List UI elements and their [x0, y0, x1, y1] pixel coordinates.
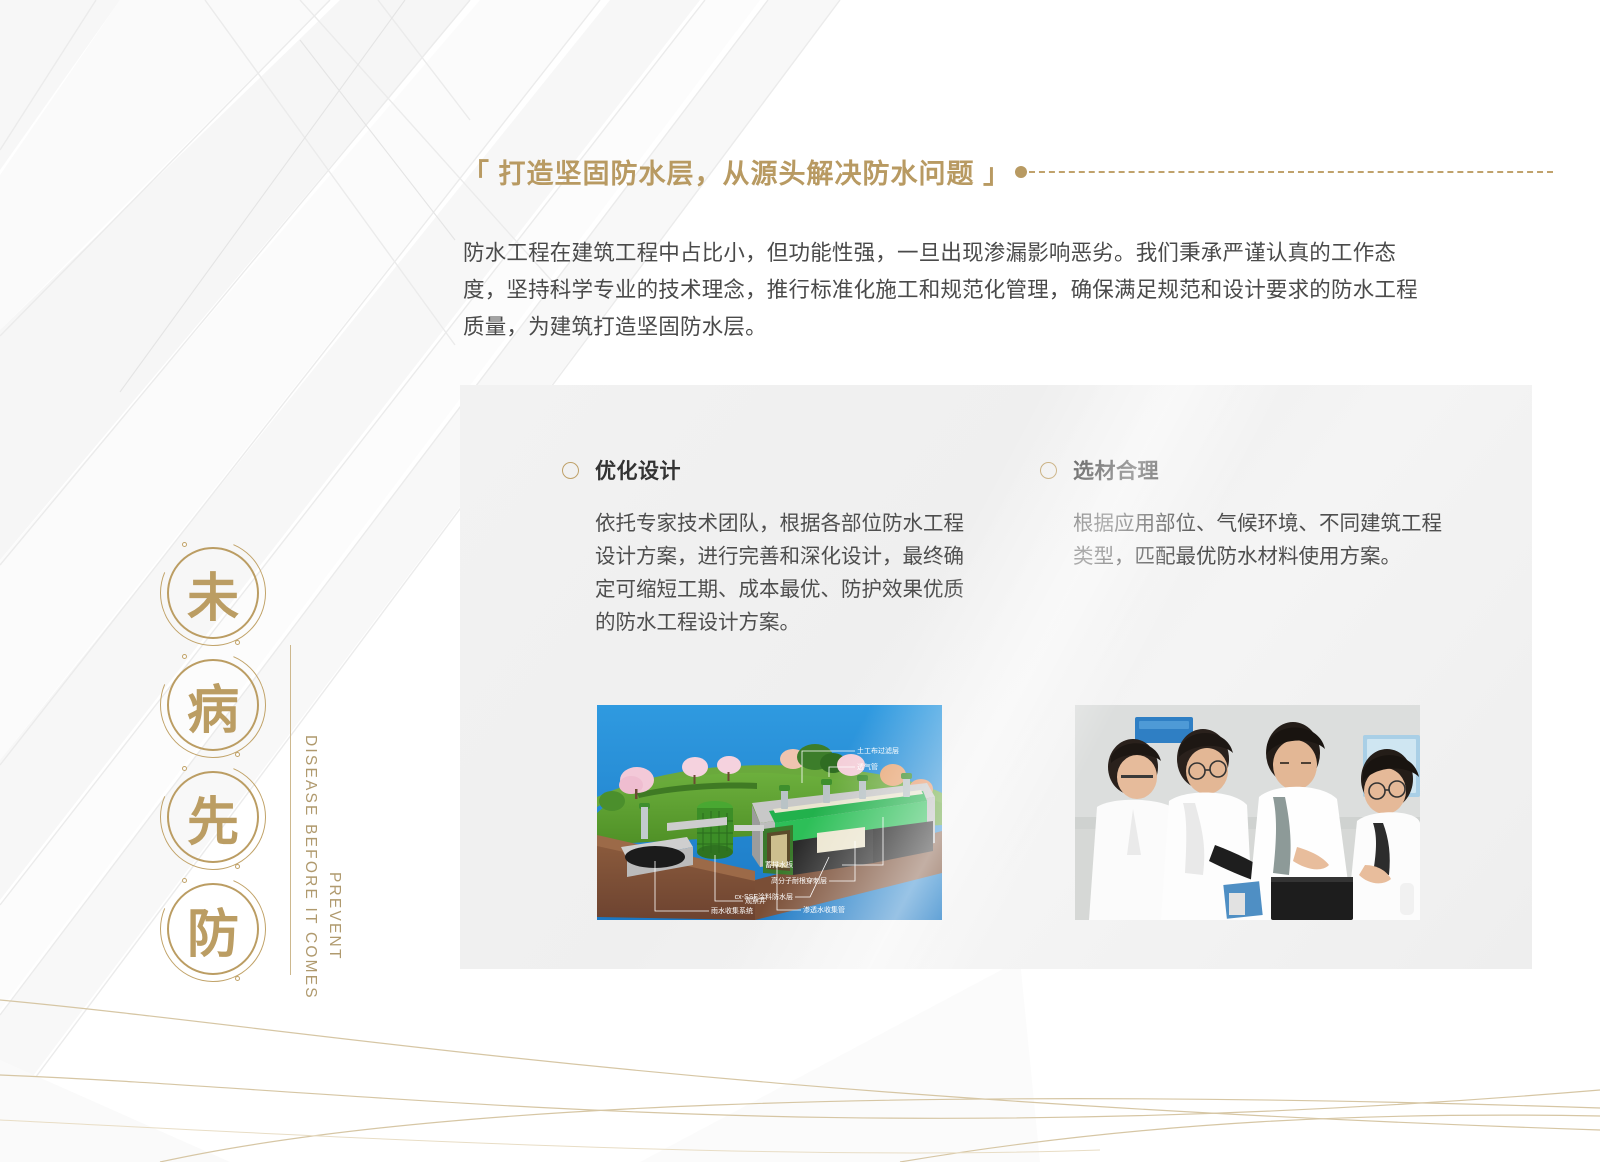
intro-paragraph: 防水工程在建筑工程中占比小，但功能性强，一旦出现渗漏影响恶劣。我们秉承严谨认真的… [463, 235, 1438, 346]
emblem-seal-group: 未 病 先 防 [160, 540, 266, 988]
emblem-english-line-1: DISEASE BEFORE IT COMES [301, 735, 319, 1000]
diagram-label: 高分子耐根穿刺层 [771, 876, 827, 885]
emblem-character: 先 [160, 764, 266, 870]
column-title: 选材合理 [1073, 455, 1159, 485]
emblem-character: 病 [160, 652, 266, 758]
headline-row: 「 打造坚固防水层，从源头解决防水问题 」 [462, 152, 1553, 191]
emblem-character: 未 [160, 540, 266, 646]
lab-team-photo [1075, 705, 1420, 920]
feature-column-optimized-design: 优化设计 依托专家技术团队，根据各部位防水工程设计方案，进行完善和深化设计，最终… [562, 455, 982, 639]
content-panel: 优化设计 依托专家技术团队，根据各部位防水工程设计方案，进行完善和深化设计，最终… [460, 385, 1532, 969]
emblem-circle: 未 [160, 540, 266, 646]
waterproofing-3d-diagram: 土工布过滤层 透气管 蓄排水板 高分子耐根穿刺层 cx-SSE涂料防水层 渗透水… [597, 705, 942, 920]
diagram-label: 观察井 [745, 896, 766, 905]
circle-outline-icon [562, 462, 579, 479]
diagram-label: 渗透水收集管 [803, 905, 845, 914]
column-body-text: 根据应用部位、气候环境、不同建筑工程类型，匹配最优防水材料使用方案。 [1073, 507, 1445, 573]
photo-svg [1075, 705, 1420, 920]
feature-column-material-selection: 选材合理 根据应用部位、气候环境、不同建筑工程类型，匹配最优防水材料使用方案。 [1040, 455, 1460, 573]
column-title: 优化设计 [595, 455, 681, 485]
diagram-label: 雨水收集系统 [711, 906, 753, 915]
emblem-english-line-2: PREVENT [325, 872, 343, 961]
emblem-vertical-divider [290, 645, 291, 975]
headline-dashed-rule [1029, 171, 1553, 173]
diagram-label: 透气管 [857, 762, 878, 771]
diagram-label: 蓄排水板 [765, 860, 793, 869]
emblem-circle: 病 [160, 652, 266, 758]
diagram-svg: 土工布过滤层 透气管 蓄排水板 高分子耐根穿刺层 cx-SSE涂料防水层 渗透水… [597, 705, 942, 920]
column-heading: 选材合理 [1040, 455, 1460, 485]
emblem-circle: 先 [160, 764, 266, 870]
column-body-text: 依托专家技术团队，根据各部位防水工程设计方案，进行完善和深化设计，最终确定可缩短… [595, 507, 967, 639]
headline-dot-icon [1015, 166, 1027, 178]
emblem-character: 防 [160, 876, 266, 982]
emblem-circle: 防 [160, 876, 266, 982]
column-heading: 优化设计 [562, 455, 982, 485]
circle-outline-icon [1040, 462, 1057, 479]
diagram-label: 土工布过滤层 [857, 746, 899, 755]
page-title: 「 打造坚固防水层，从源头解决防水问题 」 [462, 152, 1011, 191]
